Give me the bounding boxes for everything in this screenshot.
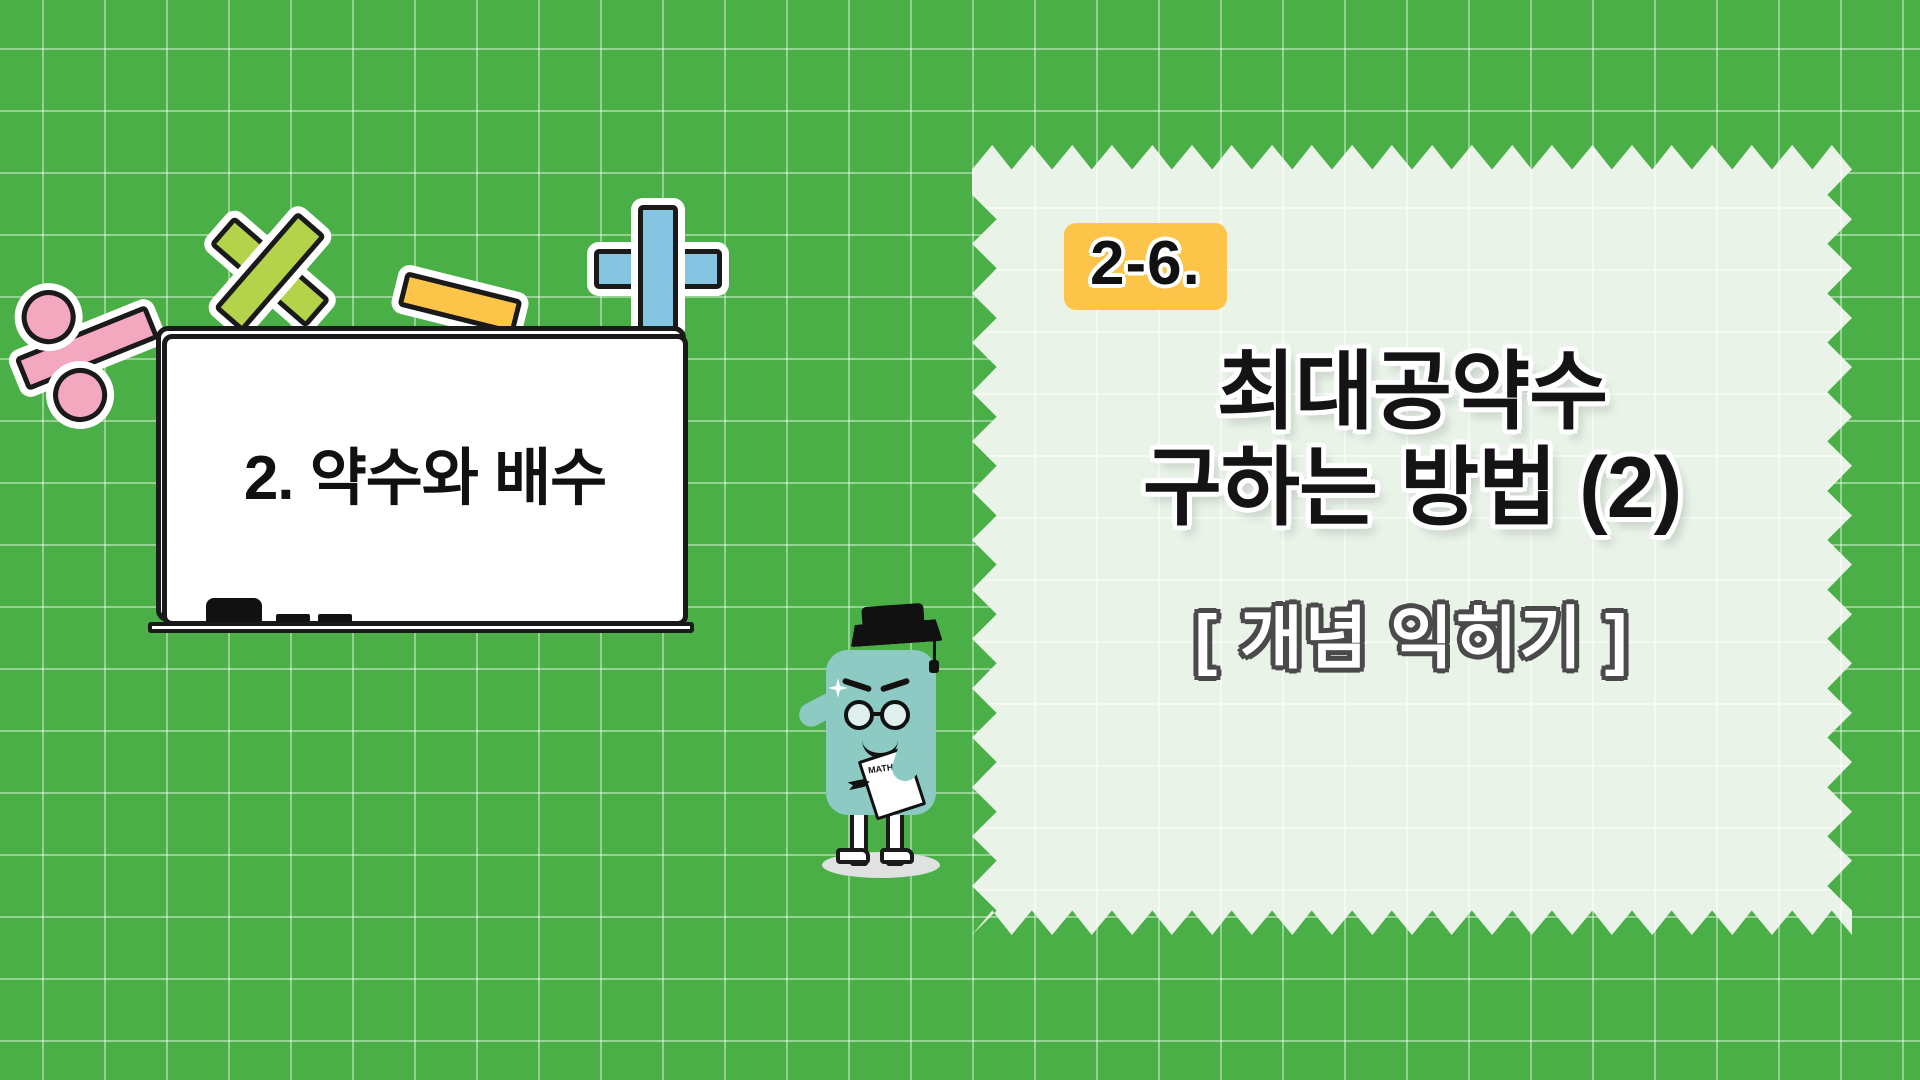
glasses-lens-left (844, 700, 874, 730)
graduation-cap-tassel-ball (929, 660, 939, 673)
graduation-cap-crown (861, 603, 925, 631)
whiteboard-tray (148, 622, 694, 633)
plus-stroke-vertical (638, 205, 678, 333)
glasses-bridge (872, 712, 884, 716)
lesson-number-badge: 2-6. (1064, 223, 1227, 310)
lesson-title-panel-content: 2-6. 최대공약수 구하는 방법 (2) [ 개념 익히기 ] (972, 145, 1852, 935)
graduation-cap-tassel (933, 640, 936, 662)
multiply-symbol-icon (206, 208, 334, 336)
character-foot-right (880, 848, 914, 864)
lesson-number-text: 2-6. (1090, 229, 1201, 298)
lesson-title-line-1: 최대공약수 (1217, 344, 1608, 440)
whiteboard-group: 2. 약수와 배수 (148, 326, 698, 646)
math-book-label: MATH (867, 762, 893, 775)
whiteboard: 2. 약수와 배수 (162, 334, 688, 626)
lesson-title-line-2: 구하는 방법 (2) (1143, 440, 1682, 536)
lesson-subtitle: [ 개념 익히기 ] (1195, 583, 1630, 682)
slide-root: 2. 약수와 배수 MATH 2-6 (0, 0, 1920, 1080)
lesson-title-panel: 2-6. 최대공약수 구하는 방법 (2) [ 개념 익히기 ] (972, 145, 1852, 935)
character-foot-left (836, 848, 870, 864)
eraser-icon (206, 598, 262, 624)
plus-symbol-icon (594, 205, 722, 333)
whiteboard-title: 2. 약수와 배수 (244, 427, 606, 517)
math-professor-character: MATH (800, 600, 960, 890)
